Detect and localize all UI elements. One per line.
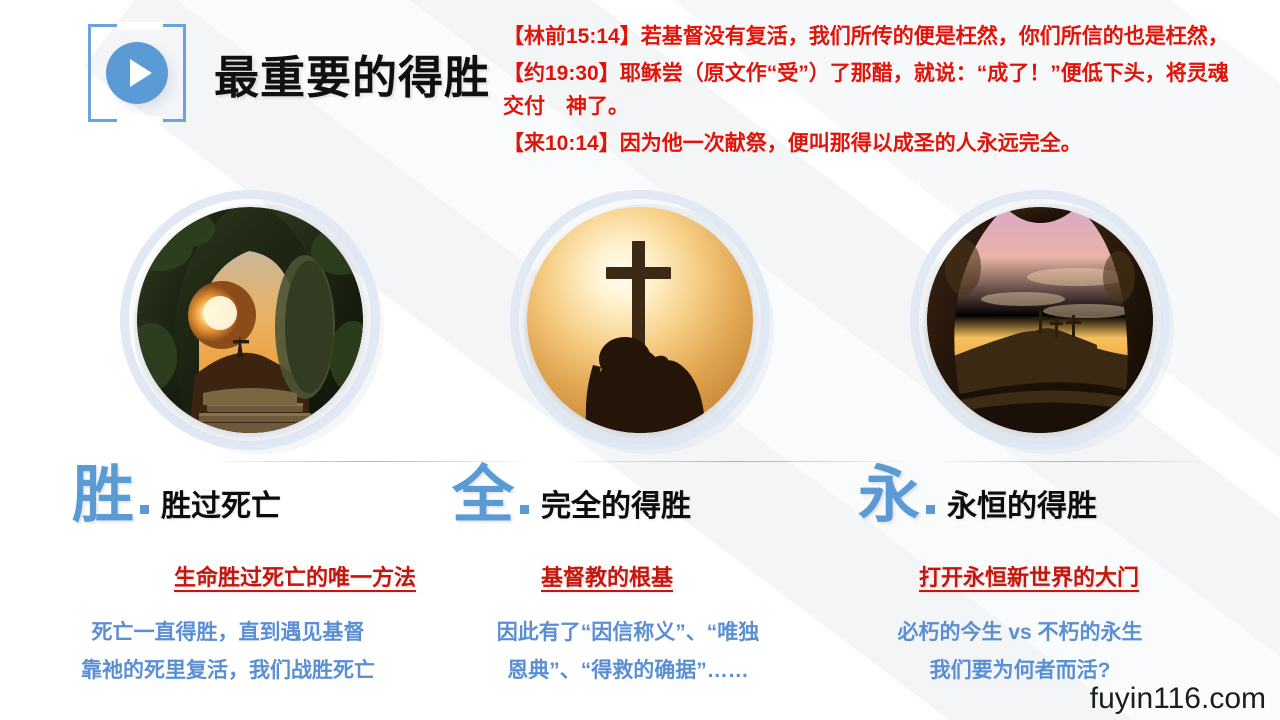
play-button-frame bbox=[88, 24, 186, 122]
bullet-square-icon-one bbox=[140, 505, 149, 514]
column-three bbox=[840, 190, 1240, 450]
scripture-verse-3: 【来10:14】因为他一次献祭，便叫那得以成圣的人永远完全。 bbox=[503, 127, 1243, 160]
big-char-three: 永 bbox=[858, 465, 920, 527]
headline-row-two: 全 完全的得胜 bbox=[452, 465, 691, 527]
site-watermark: fuyin116.com bbox=[1090, 682, 1266, 716]
kneeling-person-with-cross-photo bbox=[527, 207, 753, 433]
empty-tomb-sunrise-photo bbox=[137, 207, 363, 433]
section-divider-two bbox=[565, 461, 905, 462]
big-char-two: 全 bbox=[452, 465, 514, 527]
headline-text-three: 永恒的得胜 bbox=[947, 490, 1097, 524]
column-one bbox=[50, 190, 450, 450]
slide-header: 最重要的得胜 bbox=[88, 24, 490, 122]
scripture-block: 【林前15:14】若基督没有复活，我们所传的便是枉然，你们所信的也是枉然， 【约… bbox=[503, 20, 1243, 164]
page-title: 最重要的得胜 bbox=[214, 41, 490, 106]
body-line: 恩典”、“得救的确据”…… bbox=[428, 652, 828, 690]
scripture-verse-1: 【林前15:14】若基督没有复活，我们所传的便是枉然，你们所信的也是枉然， bbox=[503, 20, 1243, 53]
sub-heading-three: 打开永恒新世界的大门 bbox=[919, 560, 1139, 592]
photo-frame-two bbox=[510, 190, 770, 450]
body-text-three: 必朽的今生 vs 不朽的永生 我们要为何者而活? bbox=[820, 614, 1220, 690]
play-triangle-glyph bbox=[130, 59, 152, 87]
body-line: 靠祂的死里复活，我们战胜死亡 bbox=[28, 652, 428, 690]
column-two bbox=[440, 190, 840, 450]
headline-text-two: 完全的得胜 bbox=[541, 490, 691, 524]
bullet-square-icon-two bbox=[520, 505, 529, 514]
section-divider-three bbox=[940, 461, 1200, 462]
body-line: 死亡一直得胜，直到遇见基督 bbox=[28, 614, 428, 652]
photo-frame-one bbox=[120, 190, 380, 450]
big-char-one: 胜 bbox=[72, 465, 134, 527]
slide-canvas: 最重要的得胜 【林前15:14】若基督没有复活，我们所传的便是枉然，你们所信的也… bbox=[0, 0, 1280, 720]
body-line: 必朽的今生 vs 不朽的永生 bbox=[820, 614, 1220, 652]
headline-text-one: 胜过死亡 bbox=[161, 490, 281, 524]
sub-heading-one: 生命胜过死亡的唯一方法 bbox=[174, 560, 416, 592]
headline-row-three: 永 永恒的得胜 bbox=[858, 465, 1097, 527]
sub-heading-two: 基督教的根基 bbox=[541, 560, 673, 592]
body-line: 因此有了“因信称义”、“唯独 bbox=[428, 614, 828, 652]
scripture-verse-2: 【约19:30】耶稣尝（原文作“受”）了那醋，就说：“成了！”便低下头，将灵魂交… bbox=[503, 57, 1243, 123]
headline-row-one: 胜 胜过死亡 bbox=[72, 465, 281, 527]
body-text-one: 死亡一直得胜，直到遇见基督 靠祂的死里复活，我们战胜死亡 bbox=[28, 614, 428, 690]
bullet-square-icon-three bbox=[926, 505, 935, 514]
play-button-icon bbox=[106, 42, 168, 104]
photo-frame-three bbox=[910, 190, 1170, 450]
tomb-opening-three-crosses-photo bbox=[927, 207, 1153, 433]
body-text-two: 因此有了“因信称义”、“唯独 恩典”、“得救的确据”…… bbox=[428, 614, 828, 690]
